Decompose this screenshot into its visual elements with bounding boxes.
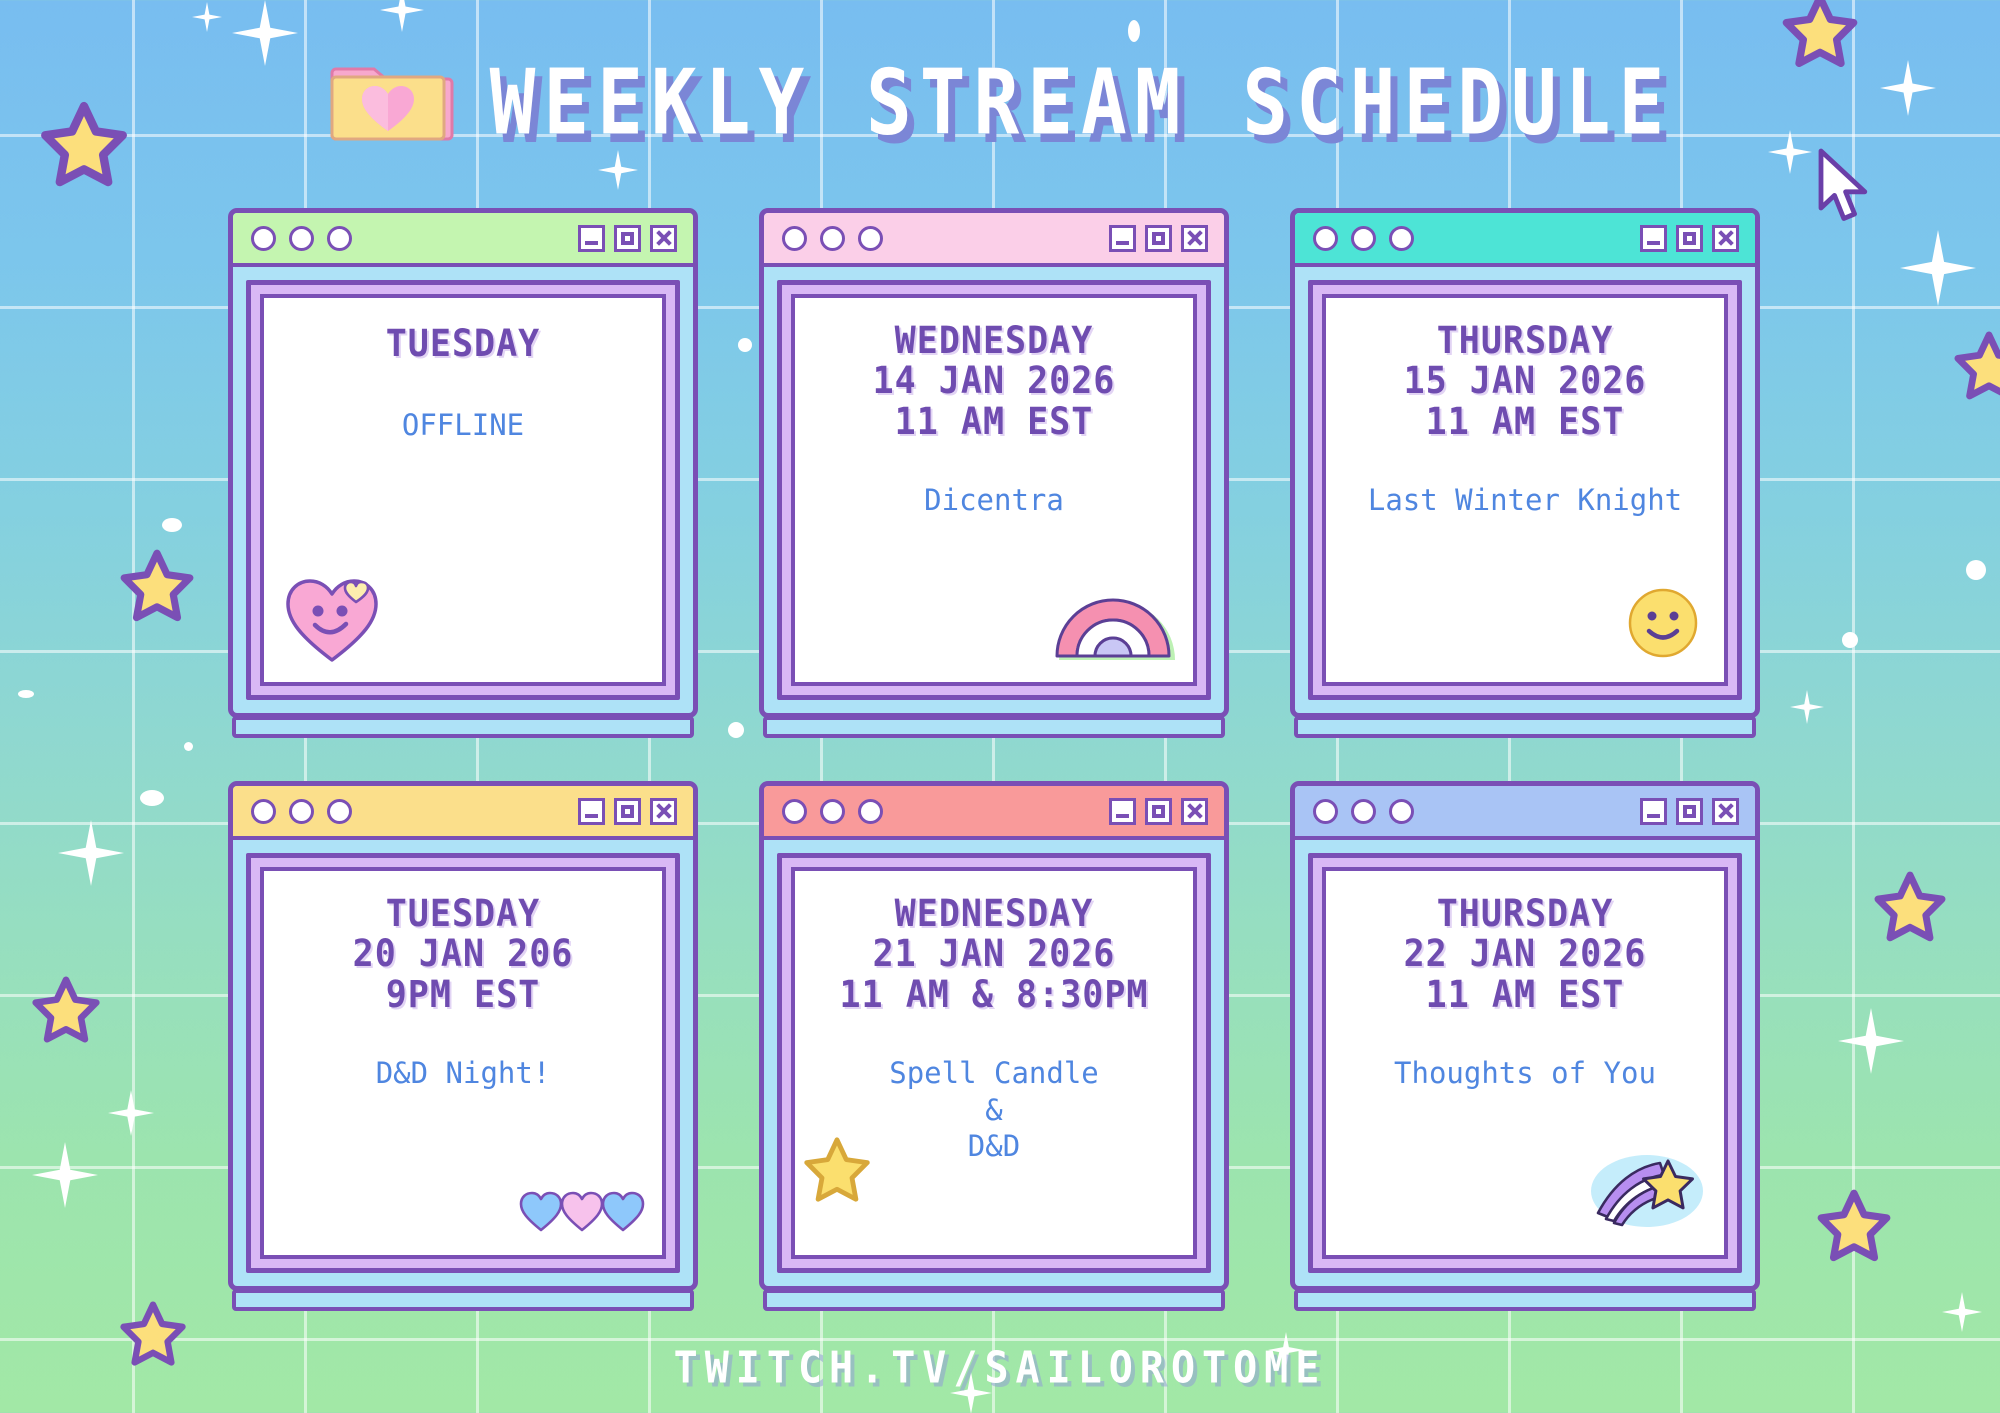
decor-dot xyxy=(18,690,34,698)
window-titlebar xyxy=(764,786,1224,840)
smiley-face-sticker xyxy=(1626,586,1700,664)
window-base-plate xyxy=(1294,1289,1756,1311)
decor-sparkle-icon xyxy=(380,0,424,32)
titlebar-dot-icon xyxy=(1351,799,1376,824)
schedule-card-tuesday-dnd-night[interactable]: TUESDAY 20 JAN 206 9PM EST D&D Night! xyxy=(228,781,698,1311)
card-body: D&D Night! xyxy=(264,1055,662,1091)
window-body: TUESDAY OFFLINE xyxy=(228,208,698,718)
close-icon[interactable] xyxy=(650,225,677,252)
window-base-plate xyxy=(1294,716,1756,738)
titlebar-dots xyxy=(1313,226,1414,251)
decor-sparkle-icon xyxy=(58,820,124,886)
decor-dot xyxy=(140,790,164,806)
window-base-plate xyxy=(232,716,694,738)
maximize-icon[interactable] xyxy=(614,798,641,825)
card-body: Thoughts of You xyxy=(1326,1055,1724,1091)
decor-sparkle-icon xyxy=(1838,1008,1904,1074)
window-inner-frame: TUESDAY OFFLINE xyxy=(246,280,680,700)
titlebar-dot-icon xyxy=(1389,799,1414,824)
page-title: WEEKLY STREAM SCHEDULE xyxy=(490,58,1673,148)
decor-dot xyxy=(162,518,182,532)
card-body: Last Winter Knight xyxy=(1326,482,1724,518)
window-screen: THURSDAY 15 JAN 2026 11 AM EST Last Wint… xyxy=(1322,294,1728,686)
card-heading: TUESDAY 20 JAN 206 9PM EST xyxy=(264,895,662,1016)
decor-sparkle-icon xyxy=(32,1142,98,1208)
window-titlebar xyxy=(764,213,1224,267)
titlebar-dot-icon xyxy=(289,226,314,251)
titlebar-buttons xyxy=(1640,798,1739,825)
page-header: WEEKLY STREAM SCHEDULE xyxy=(0,48,2000,158)
close-icon[interactable] xyxy=(1712,798,1739,825)
decor-sparkle-icon xyxy=(192,2,222,32)
window-screen: THURSDAY 22 JAN 2026 11 AM EST Thoughts … xyxy=(1322,867,1728,1259)
card-heading: WEDNESDAY 14 JAN 2026 11 AM EST xyxy=(795,322,1193,443)
decor-dot xyxy=(1966,560,1986,580)
titlebar-dot-icon xyxy=(1351,226,1376,251)
decor-sparkle-icon xyxy=(1900,230,1976,306)
card-body: Dicentra xyxy=(795,482,1193,518)
folder-heart-icon xyxy=(328,55,456,151)
window-inner-frame: THURSDAY 22 JAN 2026 11 AM EST Thoughts … xyxy=(1308,853,1742,1273)
maximize-icon[interactable] xyxy=(614,225,641,252)
schedule-card-tuesday-offline[interactable]: TUESDAY OFFLINE xyxy=(228,208,698,738)
window-titlebar xyxy=(233,786,693,840)
decor-sparkle-icon xyxy=(1790,690,1824,724)
titlebar-dots xyxy=(251,226,352,251)
footer-handle: TWITCH.TV/SAILOROTOME xyxy=(0,1343,2000,1394)
window-titlebar xyxy=(1295,213,1755,267)
card-body: Spell Candle & D&D xyxy=(795,1055,1193,1164)
shooting-star-sticker xyxy=(1586,1145,1708,1237)
maximize-icon[interactable] xyxy=(1676,798,1703,825)
minimize-icon[interactable] xyxy=(1640,225,1667,252)
close-icon[interactable] xyxy=(1712,225,1739,252)
window-base-plate xyxy=(232,1289,694,1311)
window-body: THURSDAY 15 JAN 2026 11 AM EST Last Wint… xyxy=(1290,208,1760,718)
smiling-heart-sticker xyxy=(280,568,384,672)
titlebar-dot-icon xyxy=(820,226,845,251)
window-inner-frame: WEDNESDAY 14 JAN 2026 11 AM EST Dicentra xyxy=(777,280,1211,700)
window-base-plate xyxy=(763,716,1225,738)
minimize-icon[interactable] xyxy=(1109,798,1136,825)
window-body: TUESDAY 20 JAN 206 9PM EST D&D Night! xyxy=(228,781,698,1291)
window-body: WEDNESDAY 14 JAN 2026 11 AM EST Dicentra xyxy=(759,208,1229,718)
window-titlebar xyxy=(233,213,693,267)
window-body: THURSDAY 22 JAN 2026 11 AM EST Thoughts … xyxy=(1290,781,1760,1291)
titlebar-buttons xyxy=(578,798,677,825)
titlebar-dots xyxy=(782,799,883,824)
minimize-icon[interactable] xyxy=(578,225,605,252)
titlebar-dot-icon xyxy=(820,799,845,824)
window-screen: WEDNESDAY 21 JAN 2026 11 AM & 8:30PM Spe… xyxy=(791,867,1197,1259)
schedule-card-thursday-thoughts-of-you[interactable]: THURSDAY 22 JAN 2026 11 AM EST Thoughts … xyxy=(1290,781,1760,1311)
maximize-icon[interactable] xyxy=(1145,225,1172,252)
card-heading: WEDNESDAY 21 JAN 2026 11 AM & 8:30PM xyxy=(795,895,1193,1016)
minimize-icon[interactable] xyxy=(1109,225,1136,252)
close-icon[interactable] xyxy=(650,798,677,825)
titlebar-dot-icon xyxy=(1313,799,1338,824)
card-body: OFFLINE xyxy=(264,407,662,443)
titlebar-buttons xyxy=(1109,225,1208,252)
window-inner-frame: TUESDAY 20 JAN 206 9PM EST D&D Night! xyxy=(246,853,680,1273)
card-heading: TUESDAY xyxy=(264,325,662,365)
titlebar-dot-icon xyxy=(327,226,352,251)
window-base-plate xyxy=(763,1289,1225,1311)
window-titlebar xyxy=(1295,786,1755,840)
titlebar-buttons xyxy=(1640,225,1739,252)
card-heading: THURSDAY 22 JAN 2026 11 AM EST xyxy=(1326,895,1724,1016)
decor-dot xyxy=(1842,632,1858,648)
window-screen: TUESDAY OFFLINE xyxy=(260,294,666,686)
titlebar-dot-icon xyxy=(782,799,807,824)
decor-sparkle-icon xyxy=(108,1090,154,1136)
titlebar-buttons xyxy=(1109,798,1208,825)
schedule-card-wednesday-dicentra[interactable]: WEDNESDAY 14 JAN 2026 11 AM EST Dicentra xyxy=(759,208,1229,738)
maximize-icon[interactable] xyxy=(1676,225,1703,252)
close-icon[interactable] xyxy=(1181,798,1208,825)
card-heading: THURSDAY 15 JAN 2026 11 AM EST xyxy=(1326,322,1724,443)
schedule-card-thursday-last-winter-knight[interactable]: THURSDAY 15 JAN 2026 11 AM EST Last Wint… xyxy=(1290,208,1760,738)
close-icon[interactable] xyxy=(1181,225,1208,252)
decor-dot xyxy=(184,742,193,751)
titlebar-dots xyxy=(1313,799,1414,824)
schedule-card-wednesday-spell-candle[interactable]: WEDNESDAY 21 JAN 2026 11 AM & 8:30PM Spe… xyxy=(759,781,1229,1311)
titlebar-dot-icon xyxy=(327,799,352,824)
titlebar-dot-icon xyxy=(782,226,807,251)
three-hearts-sticker xyxy=(518,1185,646,1239)
titlebar-dot-icon xyxy=(289,799,314,824)
maximize-icon[interactable] xyxy=(1145,798,1172,825)
mouse-pointer-icon xyxy=(1812,148,1878,230)
window-inner-frame: THURSDAY 15 JAN 2026 11 AM EST Last Wint… xyxy=(1308,280,1742,700)
titlebar-dots xyxy=(782,226,883,251)
titlebar-dot-icon xyxy=(858,799,883,824)
titlebar-dot-icon xyxy=(858,226,883,251)
titlebar-dot-icon xyxy=(1389,226,1414,251)
rainbow-sticker xyxy=(1051,586,1175,668)
minimize-icon[interactable] xyxy=(578,798,605,825)
minimize-icon[interactable] xyxy=(1640,798,1667,825)
window-inner-frame: WEDNESDAY 21 JAN 2026 11 AM & 8:30PM Spe… xyxy=(777,853,1211,1273)
window-screen: WEDNESDAY 14 JAN 2026 11 AM EST Dicentra xyxy=(791,294,1197,686)
titlebar-dots xyxy=(251,799,352,824)
titlebar-dot-icon xyxy=(251,226,276,251)
titlebar-dot-icon xyxy=(251,799,276,824)
decor-sparkle-icon xyxy=(1942,1292,1982,1332)
window-screen: TUESDAY 20 JAN 206 9PM EST D&D Night! xyxy=(260,867,666,1259)
window-body: WEDNESDAY 21 JAN 2026 11 AM & 8:30PM Spe… xyxy=(759,781,1229,1291)
decor-dot xyxy=(1128,20,1140,42)
titlebar-buttons xyxy=(578,225,677,252)
schedule-card-grid: TUESDAY OFFLINE xyxy=(228,208,1776,1329)
titlebar-dot-icon xyxy=(1313,226,1338,251)
